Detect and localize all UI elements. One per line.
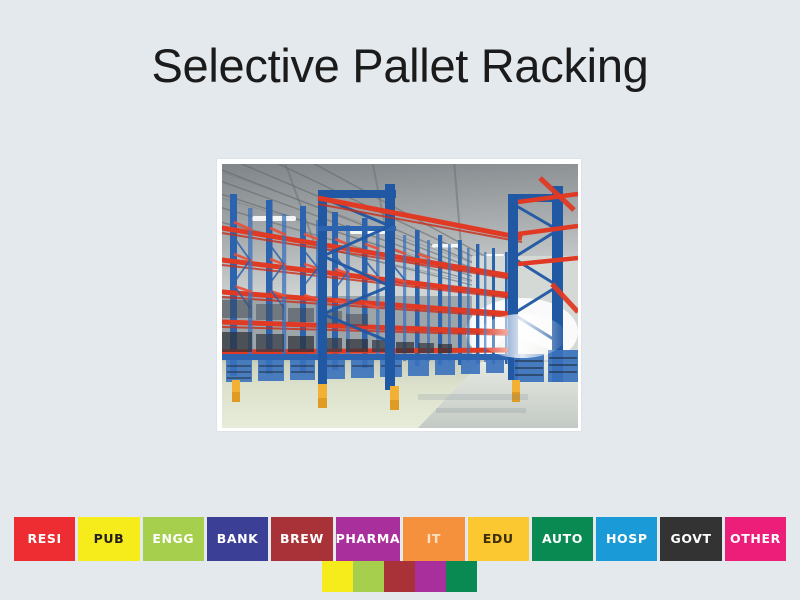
tab-it-label: IT <box>427 533 441 546</box>
tab-pub[interactable]: PUB <box>78 517 139 561</box>
tab-bank[interactable]: BANK <box>207 517 268 561</box>
tab-auto[interactable]: AUTO <box>532 517 593 561</box>
tab-edu[interactable]: EDU <box>468 517 529 561</box>
page-title: Selective Pallet Racking <box>0 36 800 96</box>
tab-resi[interactable]: RESI <box>14 517 75 561</box>
slide-canvas: Selective Pallet Racking <box>0 0 800 600</box>
tab-resi-label: RESI <box>28 533 62 546</box>
tab-pharma[interactable]: PHARMA <box>336 517 401 561</box>
tab-govt[interactable]: GOVT <box>660 517 721 561</box>
industry-tab-bar: RESI PUB ENGG BANK BREW PHARMA IT EDU AU… <box>0 517 800 561</box>
tab-auto-label: AUTO <box>542 533 583 546</box>
swatch-yellow[interactable] <box>322 561 353 592</box>
swatch-green[interactable] <box>446 561 477 592</box>
tab-engg[interactable]: ENGG <box>143 517 204 561</box>
warehouse-racking-illustration <box>222 164 578 428</box>
tab-brew[interactable]: BREW <box>271 517 332 561</box>
tab-hosp[interactable]: HOSP <box>596 517 657 561</box>
tab-other[interactable]: OTHER <box>725 517 786 561</box>
swatch-brickred[interactable] <box>384 561 415 592</box>
tab-brew-label: BREW <box>280 533 324 546</box>
tab-pharma-label: PHARMA <box>336 533 401 546</box>
tab-hosp-label: HOSP <box>606 533 648 546</box>
tab-edu-label: EDU <box>483 533 514 546</box>
tab-other-label: OTHER <box>730 533 781 546</box>
swatch-purple[interactable] <box>415 561 446 592</box>
tab-it[interactable]: IT <box>403 517 464 561</box>
tab-govt-label: GOVT <box>671 533 712 546</box>
tab-bank-label: BANK <box>217 533 259 546</box>
color-swatch-strip <box>322 561 477 592</box>
tab-pub-label: PUB <box>94 533 125 546</box>
tab-engg-label: ENGG <box>152 533 194 546</box>
swatch-lightgreen[interactable] <box>353 561 384 592</box>
racking-photo-frame <box>216 158 582 432</box>
racking-photo <box>222 164 578 428</box>
